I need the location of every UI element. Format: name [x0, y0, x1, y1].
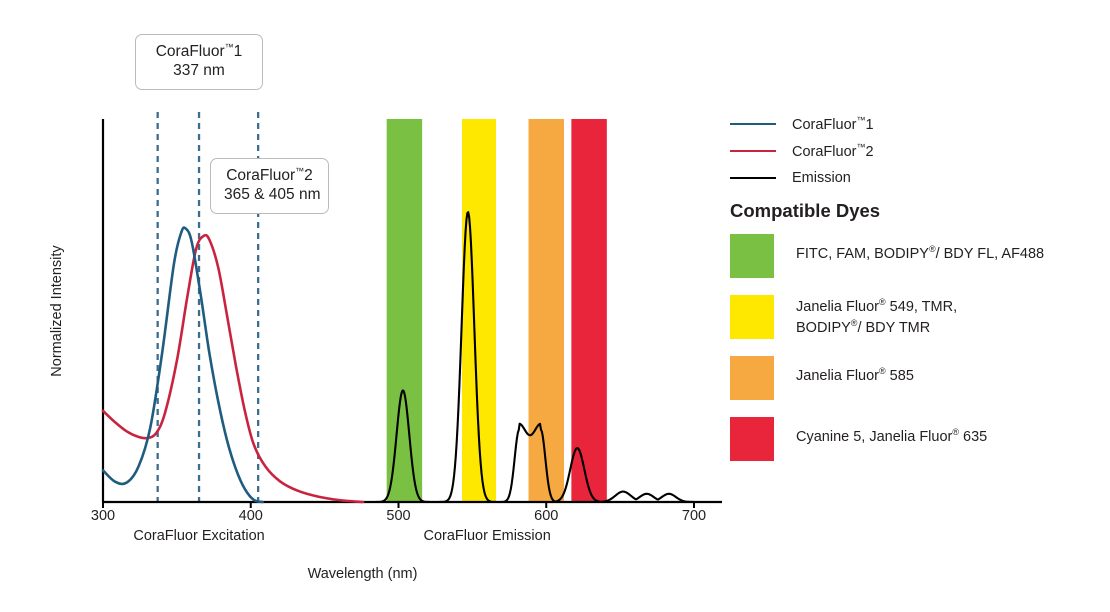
callout2-line2: 365 & 405 nm: [224, 186, 315, 205]
legend-line-swatch: [730, 123, 776, 125]
wavelength-bands: [387, 119, 607, 502]
green-band: [387, 119, 422, 502]
legend-item-3: Emission: [730, 164, 1100, 191]
callout1-line2: 337 nm: [149, 62, 249, 81]
dye-color-swatch: [730, 356, 774, 400]
dye-row-3: Janelia Fluor® 585: [730, 356, 1102, 400]
compatible-dyes-title: Compatible Dyes: [730, 200, 880, 222]
corafluor1-excitation-curve: [103, 228, 263, 502]
dye-color-swatch: [730, 295, 774, 339]
legend-line-swatch: [730, 177, 776, 179]
legend-item-label: CoraFluor™2: [792, 142, 874, 160]
registered-icon: ®: [879, 366, 886, 376]
x-axis-title: Wavelength (nm): [0, 566, 725, 582]
registered-icon: ®: [879, 297, 886, 307]
dye-label: Janelia Fluor® 549, TMR,BODIPY®/ BDY TMR: [796, 295, 957, 339]
excitation-range-label: CoraFluor Excitation: [89, 528, 309, 544]
callout1-suffix: 1: [234, 43, 243, 60]
callout2-suffix: 2: [304, 167, 313, 184]
callout1-name: CoraFluor: [156, 43, 225, 60]
x-tick-label-500: 500: [369, 508, 429, 524]
callout1-line1: CoraFluor™1: [149, 42, 249, 62]
red-band: [571, 119, 606, 502]
x-tick-label-600: 600: [516, 508, 576, 524]
legend-item-2: CoraFluor™2: [730, 137, 1100, 164]
orange-band: [529, 119, 564, 502]
callout-corafluor1: CoraFluor™1 337 nm: [135, 34, 263, 90]
x-tick-label-400: 400: [221, 508, 281, 524]
dye-label: FITC, FAM, BODIPY®/ BDY FL, AF488: [796, 234, 1044, 264]
dye-color-swatch: [730, 234, 774, 278]
legend-line-swatch: [730, 150, 776, 152]
compatible-dyes-list: FITC, FAM, BODIPY®/ BDY FL, AF488Janelia…: [730, 234, 1102, 478]
callout2-line1: CoraFluor™2: [224, 166, 315, 186]
legend-item-1: CoraFluor™1: [730, 110, 1100, 137]
registered-icon: ®: [929, 244, 936, 254]
dye-label: Cyanine 5, Janelia Fluor® 635: [796, 417, 987, 447]
dye-row-1: FITC, FAM, BODIPY®/ BDY FL, AF488: [730, 234, 1102, 278]
dye-row-4: Cyanine 5, Janelia Fluor® 635: [730, 417, 1102, 461]
emission-range-label: CoraFluor Emission: [377, 528, 597, 544]
x-tick-label-700: 700: [664, 508, 724, 524]
y-axis-title: Normalized Intensity: [49, 221, 65, 401]
callout2-name: CoraFluor: [226, 167, 295, 184]
series-legend: CoraFluor™1CoraFluor™2Emission: [730, 110, 1100, 191]
legend-item-label: CoraFluor™1: [792, 115, 874, 133]
dye-color-swatch: [730, 417, 774, 461]
legend-item-label: Emission: [792, 170, 851, 186]
x-tick-label-300: 300: [73, 508, 133, 524]
callout-corafluor2: CoraFluor™2 365 & 405 nm: [210, 158, 329, 214]
dye-row-2: Janelia Fluor® 549, TMR,BODIPY®/ BDY TMR: [730, 295, 1102, 339]
dye-label: Janelia Fluor® 585: [796, 356, 914, 386]
trademark-icon: ™: [225, 42, 234, 52]
trademark-icon: ™: [295, 166, 304, 176]
chart-figure: CoraFluor™1 337 nm CoraFluor™2 365 & 405…: [0, 0, 1110, 612]
